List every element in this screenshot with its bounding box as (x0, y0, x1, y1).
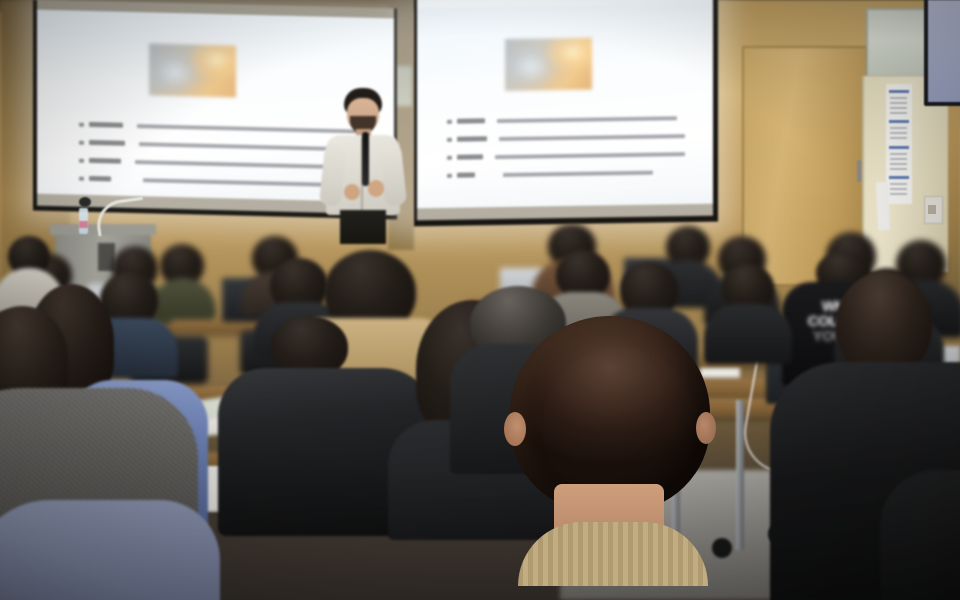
focal-attendee-left-ear (504, 412, 526, 446)
slide-bullet-text (143, 178, 325, 187)
slide-bullet-text (497, 116, 677, 123)
slide-bullet-keyword (457, 118, 485, 123)
slide-bullet-row (447, 132, 685, 143)
desk-leg (736, 400, 744, 550)
handheld-microphone (362, 132, 369, 186)
slide-bullet-number (79, 122, 84, 126)
slide-bullet-row (447, 168, 685, 179)
slide-bullet-list-right (447, 114, 685, 190)
water-bottle-label (79, 221, 88, 228)
slide-bullet-keyword (89, 176, 111, 182)
slide-bullet-row (447, 114, 685, 125)
presenter-right-hand (368, 180, 384, 197)
lecture-hall-photo: WHICH COLOR DO YOU LIKE (0, 0, 960, 600)
slide-bullet-number (79, 140, 84, 144)
slide-image-sunset-clouds (149, 43, 236, 97)
notice-poster (886, 84, 912, 204)
gooseneck-microphone-head (79, 197, 91, 207)
slide-bullet-number (79, 158, 84, 162)
slide-bullet-number (447, 173, 452, 177)
slide-bullet-keyword (457, 154, 483, 159)
slide-bullet-text (503, 170, 653, 177)
right-projection-screen (414, 0, 718, 226)
chair-caster (712, 538, 732, 558)
slide-bullet-number (79, 176, 84, 180)
slide-bullet-text (495, 152, 685, 159)
slide-bullet-keyword (89, 122, 123, 128)
presenter (318, 88, 408, 238)
presenter-trousers (340, 210, 386, 244)
slide-bullet-keyword (89, 158, 121, 164)
slide-bullet-row (447, 150, 685, 161)
slide-bullet-text (499, 134, 685, 141)
slide-bullet-keyword (457, 172, 475, 177)
slide-bullet-number (447, 155, 452, 159)
notice-paper-secondary (876, 182, 890, 231)
slide-bullet-keyword (457, 136, 487, 141)
presenter-left-hand (344, 184, 360, 200)
paper-sheet (700, 368, 740, 378)
right-screen-surface (417, 4, 713, 209)
focal-attendee-head (510, 316, 710, 512)
slide-bullet-keyword (89, 140, 125, 146)
slide-bullet-number (447, 119, 452, 123)
focal-attendee-right-ear (696, 412, 716, 444)
light-switch (928, 205, 936, 214)
slide-bullet-number (447, 137, 452, 141)
wall-mounted-display (924, 0, 960, 106)
slide-image-sunset-clouds-right (505, 38, 592, 91)
